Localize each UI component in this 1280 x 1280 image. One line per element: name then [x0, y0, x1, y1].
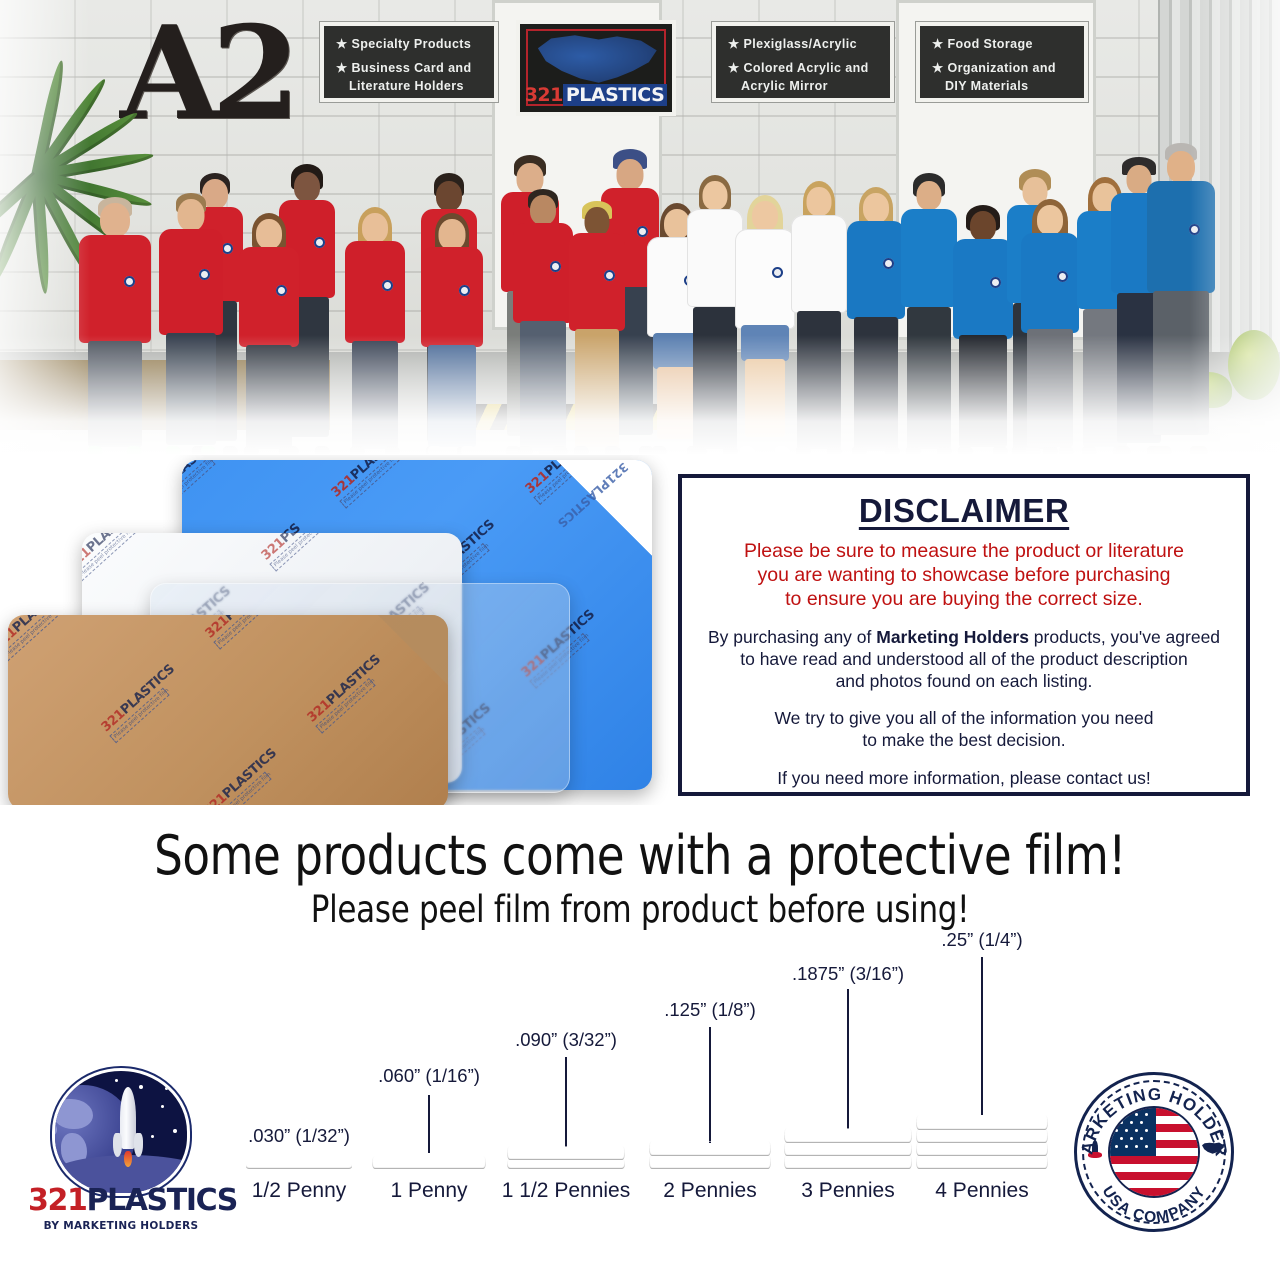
rocket-icon [115, 1087, 141, 1165]
sign-line: Acrylic Mirror [728, 77, 880, 95]
logo-number: 321 [28, 1183, 86, 1218]
para2-line: and photos found on each listing. [700, 671, 1228, 693]
photo-left-fade [0, 0, 90, 455]
penny-count-label: 1 Penny [390, 1179, 467, 1203]
disclaimer-box: DISCLAIMER Please be sure to measure the… [678, 474, 1250, 796]
disclaimer-red-line: you are wanting to showcase before purch… [700, 564, 1228, 588]
logo-number: 321 [525, 84, 563, 106]
penny-measurement-label: .090” (3/32”) [515, 1029, 617, 1051]
svg-text:USA COMPANY: USA COMPANY [1099, 1183, 1210, 1226]
coin-stack [916, 1113, 1048, 1169]
sign-line: ★ Colored Acrylic and [728, 59, 880, 77]
penny-count-label: 2 Pennies [663, 1179, 756, 1203]
disclaimer-paragraph-3: We try to give you all of the informatio… [700, 708, 1228, 751]
penny-column: .25” (1/4”) 4 Pennies [912, 965, 1052, 1215]
wall-numeral: A2 [120, 15, 188, 165]
sign-plexiglass-acrylic: ★ Plexiglass/Acrylic ★ Colored Acrylic a… [712, 22, 894, 102]
kraft-peeled-corner [378, 615, 448, 685]
penny-count-label: 1 1/2 Pennies [502, 1179, 630, 1203]
para2-post: products, you've agreed [1029, 627, 1220, 647]
brand-name: Marketing Holders [876, 627, 1029, 647]
storefront-logo-text: 321PLASTICS [520, 84, 672, 106]
penny-measurement-label: .060” (1/16”) [378, 1065, 480, 1087]
logo-word: PLASTICS [86, 1183, 237, 1218]
disclaimer-paragraph-4: If you need more information, please con… [700, 768, 1228, 790]
team-group-photo: A2 ★ Specialty Products ★ Business Card … [0, 0, 1280, 455]
logo-321-plastics: 321PLASTICS BY MARKETING HOLDERS [28, 1068, 214, 1240]
badge-arc-text: MARKETING HOLDERS USA COMPANY [1066, 1070, 1244, 1240]
sign-line: ★ Food Storage [932, 35, 1074, 53]
kraft-paper-sheet: 321PLASTICSPlease peel protective film 3… [8, 615, 448, 805]
penny-measurement-label: .25” (1/4”) [941, 929, 1022, 951]
main-headline: Some products come with a protective fil… [45, 824, 1235, 887]
penny-count-label: 4 Pennies [935, 1179, 1028, 1203]
disclaimer-paragraph-2: By purchasing any of Marketing Holders p… [700, 627, 1228, 692]
penny-measurement-label: .030” (1/32”) [248, 1125, 350, 1147]
promotional-infographic: A2 ★ Specialty Products ★ Business Card … [0, 0, 1280, 1280]
sign-specialty-products: ★ Specialty Products ★ Business Card and… [320, 22, 498, 102]
disclaimer-title: DISCLAIMER [700, 492, 1228, 530]
para3-line: We try to give you all of the informatio… [700, 708, 1228, 730]
penny-count-label: 1/2 Penny [252, 1179, 347, 1203]
rocket-globe-badge-icon [52, 1068, 190, 1196]
para2-pre: By purchasing any of [708, 627, 876, 647]
logo-321-tagline: BY MARKETING HOLDERS [28, 1220, 214, 1232]
coin-stack [372, 1155, 486, 1169]
logo-marketing-holders: MARKETING HOLDERS USA COMPANY [1066, 1070, 1244, 1240]
disclaimer-red-line: to ensure you are buying the correct siz… [700, 588, 1228, 612]
penny-column: .030” (1/32”) 1/2 Penny [237, 965, 361, 1215]
para2-line: to have read and understood all of the p… [700, 649, 1228, 671]
penny-column: .090” (3/32”) 1 1/2 Pennies [496, 965, 636, 1215]
sign-line: Literature Holders [336, 77, 484, 95]
sign-line: ★ Plexiglass/Acrylic [728, 35, 880, 53]
penny-column: .1875” (3/16”) 3 Pennies [778, 965, 918, 1215]
coin-stack [649, 1139, 771, 1169]
sign-line: ★ Specialty Products [336, 35, 484, 53]
photo-right-fade [1190, 0, 1280, 455]
disclaimer-red-line: Please be sure to measure the product or… [700, 540, 1228, 564]
penny-column: .060” (1/16”) 1 Penny [367, 965, 491, 1215]
coin-stack [246, 1163, 352, 1169]
photo-bottom-fade [0, 335, 1280, 455]
logo-321-wordmark: 321PLASTICS [28, 1186, 214, 1216]
penny-column: .125” (1/8”) 2 Pennies [640, 965, 780, 1215]
sub-headline: Please peel film from product before usi… [45, 888, 1235, 931]
sign-line: ★ Organization and [932, 59, 1074, 77]
logo-word: PLASTICS [563, 84, 667, 106]
penny-count-label: 3 Pennies [801, 1179, 894, 1203]
para3-line: to make the best decision. [700, 730, 1228, 752]
sign-line: ★ Business Card and [336, 59, 484, 77]
sign-food-storage: ★ Food Storage ★ Organization and DIY Ma… [916, 22, 1088, 102]
disclaimer-red-paragraph: Please be sure to measure the product or… [700, 540, 1228, 611]
svg-text:MARKETING HOLDERS: MARKETING HOLDERS [1066, 1070, 1231, 1159]
coin-stack [784, 1127, 912, 1169]
storefront-logo-sign: 321PLASTICS [516, 20, 676, 116]
penny-measurement-label: .1875” (3/16”) [792, 963, 904, 985]
coin-stack [507, 1145, 625, 1169]
sign-line: DIY Materials [932, 77, 1074, 95]
protective-film-product-image: 321PLASTICSPlease peel protective film 3… [0, 455, 670, 805]
penny-measurement-label: .125” (1/8”) [664, 999, 756, 1021]
